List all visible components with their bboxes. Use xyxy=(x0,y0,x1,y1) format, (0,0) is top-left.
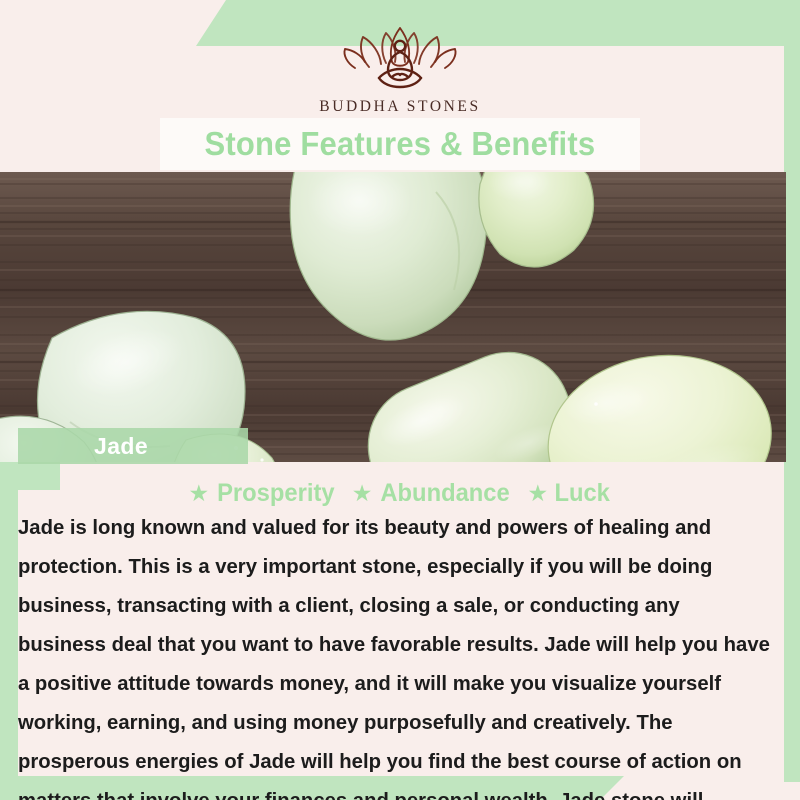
keyword-label: Abundance xyxy=(381,479,510,508)
star-icon: ★ xyxy=(352,482,373,505)
title-bar: Stone Features & Benefits xyxy=(160,118,640,170)
keyword-label: Luck xyxy=(555,479,610,508)
jade-stones-image xyxy=(0,172,786,462)
keyword-label: Prosperity xyxy=(217,479,334,508)
keyword-item: ★ Abundance xyxy=(352,479,514,508)
page-title: Stone Features & Benefits xyxy=(205,125,596,163)
stone-name-tag: Jade xyxy=(18,428,248,464)
keyword-row: ★ Prosperity ★ Abundance ★ Luck xyxy=(0,478,800,508)
stone-info-poster: BUDDHA STONES Stone Features & Benefits xyxy=(0,0,800,800)
left-text-green-strip xyxy=(0,488,18,778)
brand-logo: BUDDHA STONES xyxy=(0,22,800,116)
keyword-item: ★ Prosperity xyxy=(188,479,337,508)
keyword-item: ★ Luck xyxy=(528,479,612,508)
stone-photo xyxy=(0,172,786,462)
stone-description: Jade is long known and valued for its be… xyxy=(18,508,773,800)
star-icon: ★ xyxy=(188,482,209,505)
brand-wordmark: BUDDHA STONES xyxy=(319,98,480,116)
star-icon: ★ xyxy=(528,482,549,505)
lotus-meditation-icon xyxy=(339,22,461,90)
stone-name-label: Jade xyxy=(94,433,148,460)
right-green-strip xyxy=(784,0,800,782)
